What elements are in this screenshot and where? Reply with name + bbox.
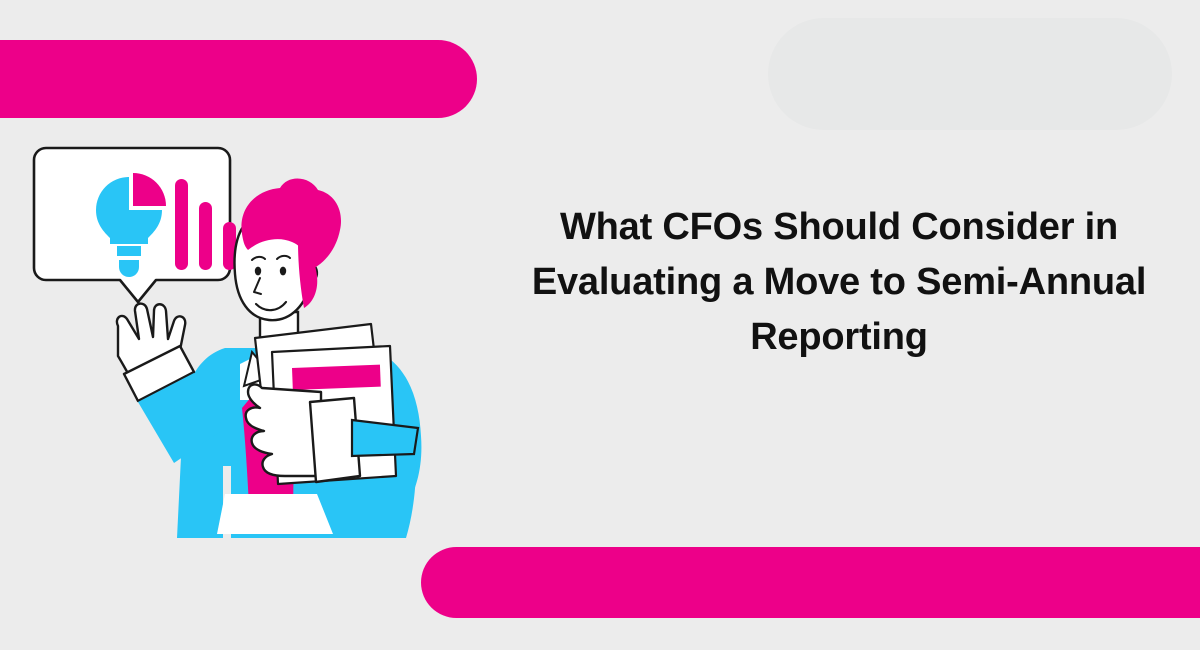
top-accent-bar [0,40,477,118]
page-title: What CFOs Should Consider in Evaluating … [505,200,1173,365]
eye-right [280,267,286,276]
illustration-businessman-with-documents [20,130,450,550]
bottom-accent-bar [421,547,1200,618]
article-header-banner: What CFOs Should Consider in Evaluating … [0,0,1200,650]
analytics-speech-bubble [34,148,260,302]
eye-left [255,267,261,276]
document-highlight-bar [292,365,381,390]
background-ghost-pill [768,18,1172,130]
